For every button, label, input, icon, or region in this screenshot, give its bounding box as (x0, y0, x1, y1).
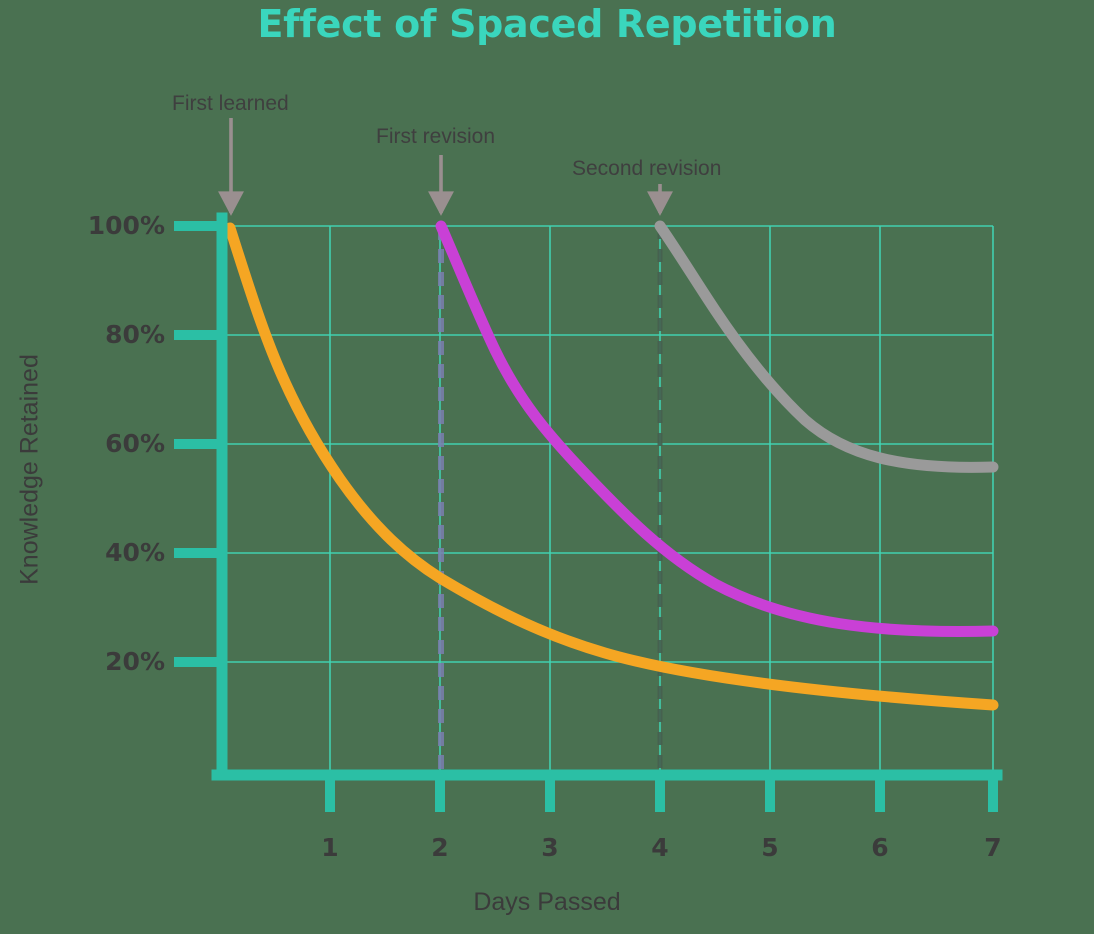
series-after-first-revision (441, 226, 993, 631)
x-axis-ticks (330, 775, 993, 812)
grid-horizontal (222, 226, 993, 662)
x-tick-label-5: 5 (740, 833, 800, 862)
x-tick-label-7: 7 (963, 833, 1023, 862)
x-tick-label-2: 2 (410, 833, 470, 862)
x-tick-label-6: 6 (850, 833, 910, 862)
y-tick-label-100: 100% (20, 211, 165, 240)
y-axis-title: Knowledge Retained (16, 310, 45, 630)
x-tick-label-4: 4 (630, 833, 690, 862)
annotation-label-second-revision: Second revision (572, 157, 721, 181)
series-after-second-revision (660, 226, 993, 467)
annotation-label-first-revision: First revision (376, 125, 495, 149)
x-tick-label-3: 3 (520, 833, 580, 862)
y-tick-label-20: 20% (20, 647, 165, 676)
chart-canvas: Effect of Spaced Repetition (0, 0, 1094, 934)
x-tick-label-1: 1 (300, 833, 360, 862)
annotation-label-first-learned: First learned (172, 92, 289, 116)
x-axis-title: Days Passed (0, 888, 1094, 917)
chart-plot (0, 0, 1094, 934)
